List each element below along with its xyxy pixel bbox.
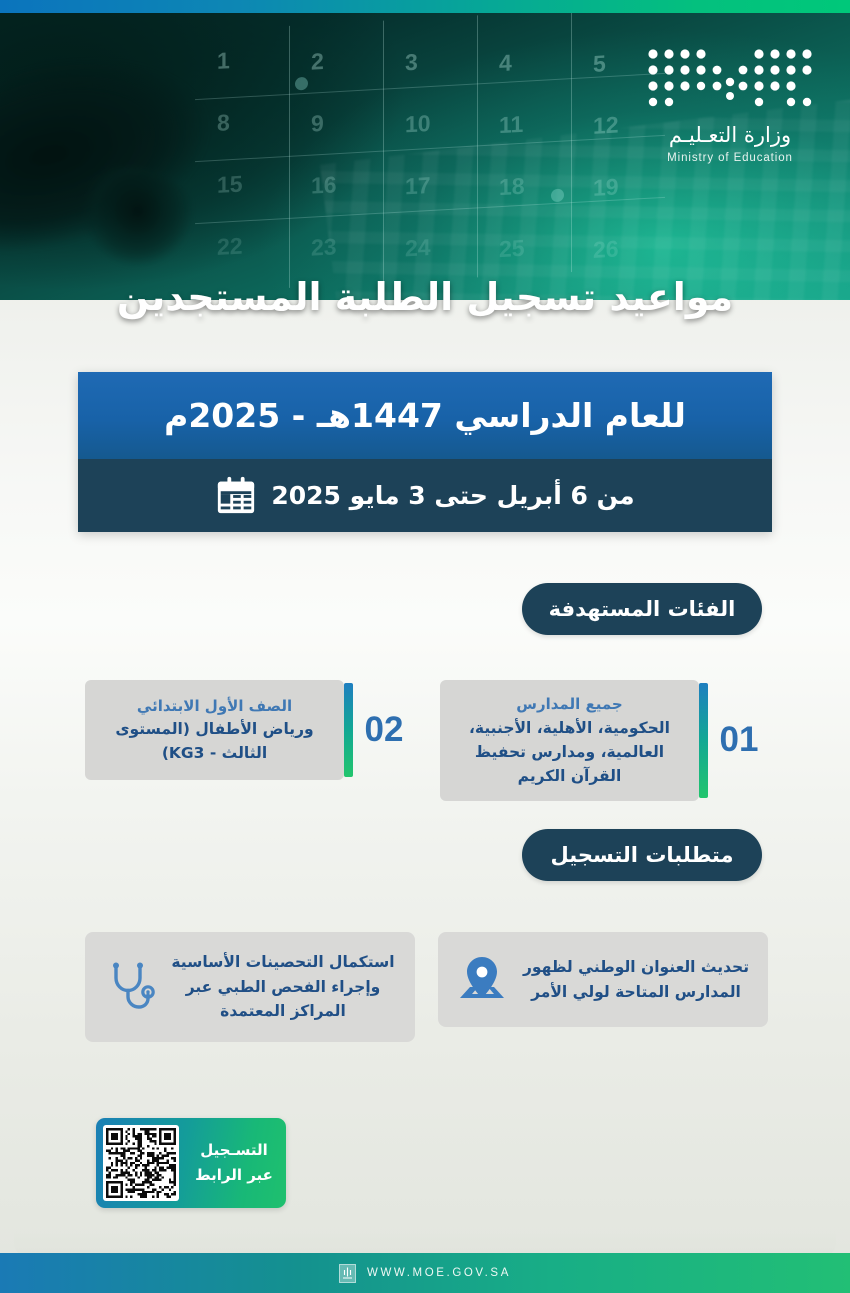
target-card-01-number: 01 — [708, 680, 770, 801]
calendar-grid-overlay: 123458910111215161718192223242526 — [195, 5, 665, 293]
top-accent-bar — [0, 0, 850, 13]
location-pin-icon — [456, 954, 508, 1006]
section-heading-requirements: متطلبات التسجيل — [522, 829, 762, 881]
poster-root: 123458910111215161718192223242526 وزارة … — [0, 0, 850, 1293]
qr-label-line1: التسـجيل — [189, 1138, 279, 1164]
requirement-card-address: تحديث العنوان الوطني لظهور المدارس المتا… — [438, 932, 768, 1027]
target-card-02-line2: وریاض الأطفال (المستوى الثالث - KG3) — [101, 717, 328, 765]
moe-dot-logo-icon — [645, 46, 815, 108]
target-card-01-line1: جميع المدارس — [516, 693, 622, 716]
date-banner: للعام الدراسي 1447هـ - 2025م من 6 أبريل … — [78, 372, 772, 532]
stethoscope-icon — [103, 961, 155, 1013]
page-title: مواعيد تسجيل الطلبة المستجدين — [0, 275, 850, 319]
ministry-name-english: Ministry of Education — [640, 152, 820, 164]
qr-code-icon[interactable] — [103, 1125, 179, 1201]
registration-period-text: من 6 أبريل حتى 3 مايو 2025 — [271, 481, 634, 510]
target-card-02-line1: الصف الأول الابتدائي — [137, 695, 292, 718]
requirement-card-health: استكمال التحصينات الأساسية وإجراء الفحص … — [85, 932, 415, 1042]
ministry-name-arabic: وزارة التعـليـم — [640, 124, 820, 147]
ministry-logo: وزارة التعـليـم Ministry of Education — [640, 46, 820, 164]
target-card-02-number: 02 — [353, 680, 415, 780]
target-card-02: 02 الصف الأول الابتدائي وریاض الأطفال (ا… — [85, 680, 415, 780]
requirement-address-text: تحديث العنوان الوطني لظهور المدارس المتا… — [522, 955, 750, 1005]
target-card-01-body: جميع المدارس الحكومية، الأهلية، الأجنبية… — [440, 680, 699, 801]
section-heading-targets: الفئات المستهدفة — [522, 583, 762, 635]
footer-bar: WWW.MOE.GOV.SA — [0, 1253, 850, 1293]
footer-url[interactable]: WWW.MOE.GOV.SA — [367, 1267, 511, 1279]
target-card-02-accent-bar — [344, 683, 353, 777]
academic-year-band: للعام الدراسي 1447هـ - 2025م — [78, 372, 772, 459]
registration-qr-block[interactable]: التسـجيل عبر الرابط — [96, 1118, 286, 1208]
target-card-01-accent-bar — [699, 683, 708, 798]
target-card-01-line2: الحكومية، الأهلية، الأجنبية، العالمية، و… — [456, 716, 683, 788]
target-card-01: 01 جميع المدارس الحكومية، الأهلية، الأجن… — [440, 680, 770, 801]
target-card-02-body: الصف الأول الابتدائي وریاض الأطفال (المس… — [85, 680, 344, 780]
qr-label: التسـجيل عبر الرابط — [189, 1138, 279, 1189]
saudi-emblem-icon — [339, 1264, 356, 1283]
registration-period-band: من 6 أبريل حتى 3 مايو 2025 — [78, 459, 772, 532]
requirement-health-text: استكمال التحصينات الأساسية وإجراء الفحص … — [169, 950, 397, 1024]
qr-label-line2: عبر الرابط — [189, 1163, 279, 1189]
calendar-icon — [215, 475, 257, 517]
